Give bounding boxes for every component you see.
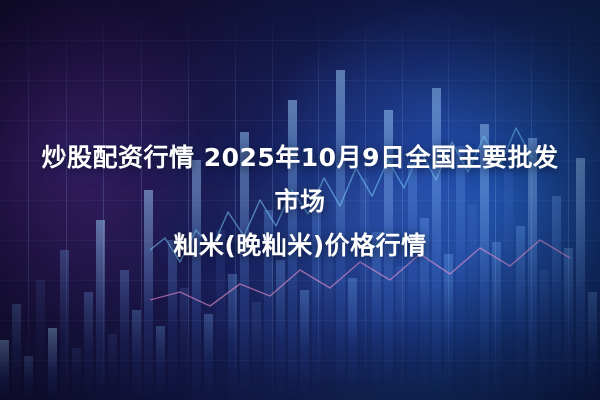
headline-block: 炒股配资行情 2025年10月9日全国主要批发市场 籼米(晚籼米)价格行情 [0, 0, 600, 400]
page-title: 炒股配资行情 2025年10月9日全国主要批发市场 籼米(晚籼米)价格行情 [30, 136, 570, 268]
title-line-2: 籼米(晚籼米)价格行情 [30, 224, 570, 268]
promo-banner: 炒股配资行情 2025年10月9日全国主要批发市场 籼米(晚籼米)价格行情 [0, 0, 600, 400]
title-line-1: 炒股配资行情 2025年10月9日全国主要批发市场 [30, 136, 570, 224]
